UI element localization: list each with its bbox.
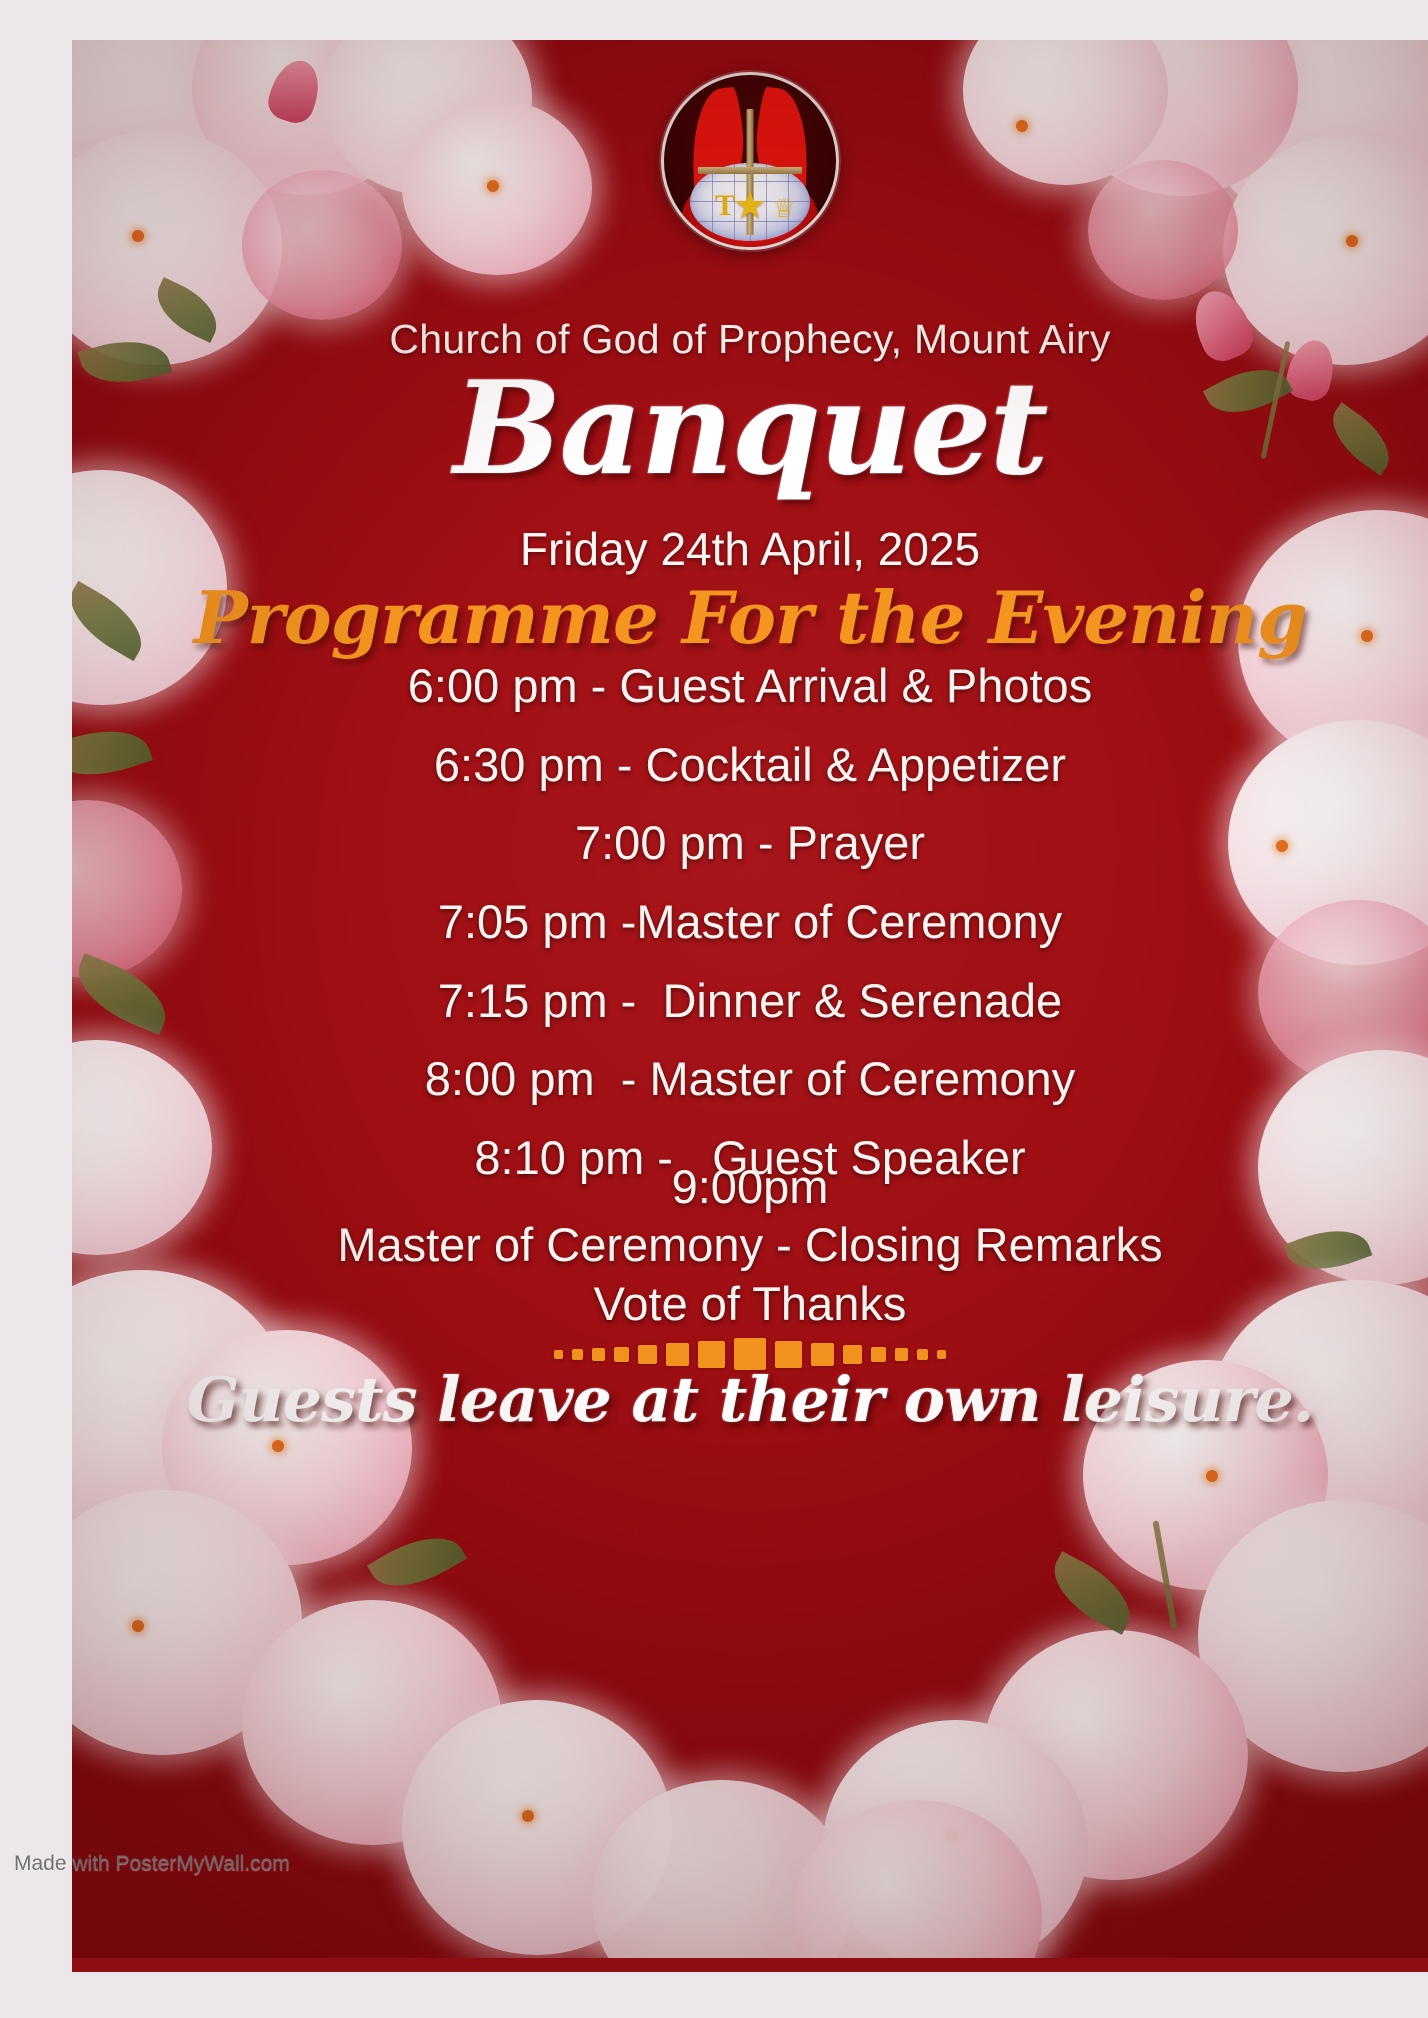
rose-center	[272, 1440, 284, 1452]
divider-square	[572, 1349, 583, 1360]
footer-note: Guests leave at their own leisure.	[72, 1366, 1428, 1434]
rose-center	[946, 1830, 958, 1842]
closing-time: 9:00pm	[132, 1158, 1368, 1216]
rose-bloom	[823, 1720, 1088, 1970]
divider-square	[871, 1347, 886, 1362]
list-item: 8:00 pm - Master of Ceremony	[132, 1053, 1368, 1105]
church-of-god-of-prophecy-emblem-icon: T ★ ♕	[661, 72, 839, 250]
rose-bloom	[402, 1700, 672, 1955]
closing-block: 9:00pm Master of Ceremony - Closing Rema…	[132, 1158, 1368, 1333]
watermark: Made with PosterMyWall.com	[14, 1852, 290, 1876]
vote-of-thanks: Vote of Thanks	[132, 1275, 1368, 1333]
rose-center	[1206, 1470, 1218, 1482]
rose-bloom	[72, 1490, 302, 1755]
event-date: Friday 24th April, 2025	[72, 522, 1428, 576]
divider-square	[592, 1348, 605, 1361]
divider-square	[895, 1348, 908, 1361]
list-item: 6:30 pm - Cocktail & Appetizer	[132, 739, 1368, 791]
schedule-list: 6:00 pm - Guest Arrival & Photos 6:30 pm…	[132, 660, 1368, 1211]
closing-remarks: Master of Ceremony - Closing Remarks	[132, 1216, 1368, 1274]
rose-bloom	[792, 1800, 1042, 1970]
star-icon: ★	[733, 187, 767, 225]
rose-bloom	[592, 1780, 852, 1970]
list-item: 7:05 pm -Master of Ceremony	[132, 896, 1368, 948]
list-item: 6:00 pm - Guest Arrival & Photos	[132, 660, 1368, 712]
divider-square	[843, 1345, 862, 1364]
rose-bloom	[1198, 1500, 1428, 1772]
page-title: Banquet	[72, 362, 1428, 496]
divider-square	[638, 1345, 657, 1364]
poster-stage: T ★ ♕ Church of God of Prophecy, Mount A…	[0, 0, 1428, 2018]
divider-square	[614, 1347, 629, 1362]
poster-canvas: T ★ ♕ Church of God of Prophecy, Mount A…	[72, 40, 1428, 1970]
stem	[1152, 1520, 1177, 1629]
rose-bloom	[242, 1600, 502, 1845]
leaf	[1041, 1551, 1144, 1635]
rose-center	[132, 1620, 144, 1632]
cross-bar-icon	[698, 167, 802, 174]
logo-container: T ★ ♕	[72, 72, 1428, 250]
divider-square	[917, 1349, 928, 1360]
list-item: 7:00 pm - Prayer	[132, 817, 1368, 869]
bottom-band	[72, 1958, 1428, 1972]
list-item: 7:15 pm - Dinner & Serenade	[132, 975, 1368, 1027]
divider-square	[554, 1350, 563, 1359]
rose-center	[522, 1810, 534, 1822]
leaf	[367, 1520, 467, 1603]
rose-bloom	[983, 1630, 1248, 1880]
divider-square	[937, 1350, 946, 1359]
programme-heading: Programme For the Evening	[72, 578, 1428, 657]
crown-icon: ♕	[773, 197, 796, 219]
